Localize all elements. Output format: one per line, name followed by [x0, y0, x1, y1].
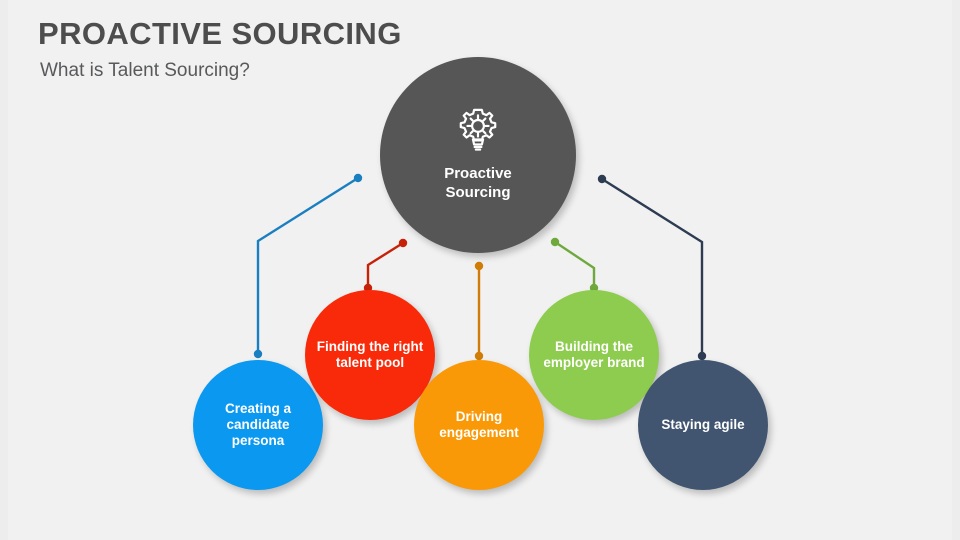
connector-dot-hub-agile [598, 175, 606, 183]
hub-node-label: Proactive Sourcing [436, 164, 520, 203]
connector-dot-node-agile [698, 352, 706, 360]
hub-node-proactive-sourcing[interactable]: Proactive Sourcing [380, 57, 576, 253]
connector-dot-node-engage [475, 352, 483, 360]
node-label: Driving engagement [414, 409, 544, 441]
hub-label-line-1: Proactive [444, 164, 512, 184]
node-driving-engagement[interactable]: Driving engagement [414, 360, 544, 490]
node-label: Staying agile [653, 417, 752, 433]
node-label: Building the employer brand [529, 339, 659, 371]
gear-lightbulb-icon [451, 104, 505, 158]
node-staying-agile[interactable]: Staying agile [638, 360, 768, 490]
connector-talent [364, 239, 407, 292]
node-finding-the-right-talent-pool[interactable]: Finding the right talent pool [305, 290, 435, 420]
slide-canvas: PROACTIVE SOURCING What is Talent Sourci… [0, 0, 960, 540]
node-building-the-employer-brand[interactable]: Building the employer brand [529, 290, 659, 420]
node-label: Creating a candidate persona [193, 401, 323, 449]
connector-brand [551, 238, 598, 292]
connector-dot-hub-engage [475, 262, 483, 270]
connector-dot-hub-persona [354, 174, 362, 182]
connector-dot-hub-brand [551, 238, 559, 246]
connector-engage [475, 262, 483, 360]
node-creating-a-candidate-persona[interactable]: Creating a candidate persona [193, 360, 323, 490]
connector-dot-node-persona [254, 350, 262, 358]
node-label: Finding the right talent pool [305, 339, 435, 371]
hub-label-line-2: Sourcing [444, 183, 512, 203]
connector-dot-hub-talent [399, 239, 407, 247]
